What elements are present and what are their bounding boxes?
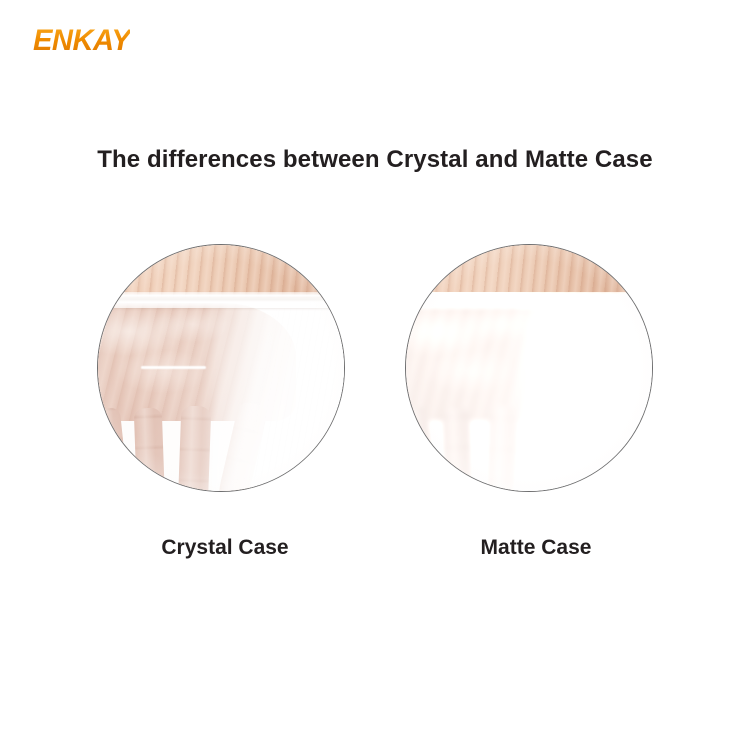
enkay-logo: ENKAY bbox=[33, 26, 130, 56]
case-gloss-highlight bbox=[211, 303, 345, 492]
matte-case-sheet bbox=[405, 303, 653, 492]
comparison-row bbox=[0, 244, 750, 494]
infographic-page: ENKAY The differences between Crystal an… bbox=[0, 0, 750, 750]
comparison-item-crystal bbox=[97, 244, 345, 492]
case-edge-line bbox=[405, 292, 653, 308]
comparison-item-matte bbox=[405, 244, 653, 492]
case-gloss-highlight bbox=[519, 303, 653, 492]
sharp-skin-strip bbox=[405, 244, 653, 292]
crystal-scene bbox=[97, 244, 345, 492]
bare-skin-band bbox=[405, 244, 653, 292]
hand-through-case bbox=[405, 303, 653, 492]
clear-case-sheet bbox=[97, 303, 345, 492]
hand-through-case bbox=[97, 303, 345, 492]
case-specular-streak bbox=[141, 366, 206, 369]
caption-matte-case: Matte Case bbox=[412, 536, 660, 560]
bare-skin-band bbox=[97, 244, 345, 298]
page-title: The differences between Crystal and Matt… bbox=[0, 146, 750, 174]
crystal-case-photo bbox=[97, 244, 345, 492]
matte-case-photo bbox=[405, 244, 653, 492]
case-edge-line bbox=[97, 292, 345, 308]
caption-crystal-case: Crystal Case bbox=[101, 536, 349, 560]
